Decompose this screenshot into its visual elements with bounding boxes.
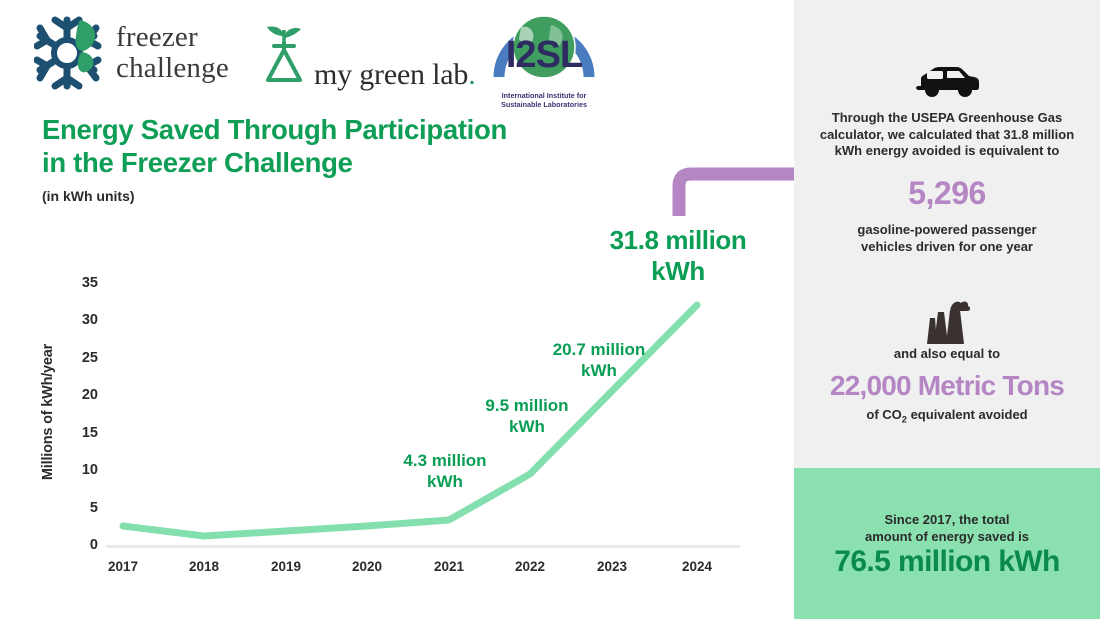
x-tick-2017: 2017 <box>88 559 158 574</box>
emissions-caption-suffix: equivalent avoided <box>907 407 1028 422</box>
x-tick-2019: 2019 <box>251 559 321 574</box>
emissions-value: 22,000 Metric Tons <box>810 371 1084 401</box>
emissions-lead-in: and also equal to <box>810 346 1084 363</box>
total-description: Since 2017, the total amount of energy s… <box>810 512 1084 545</box>
x-tick-2023: 2023 <box>577 559 647 574</box>
data-label-2023-line2: kWh <box>581 361 617 380</box>
data-label-2022-line1: 9.5 million <box>485 396 568 415</box>
line-chart: Millions of kWh/year 35 30 25 20 15 10 5… <box>0 0 794 619</box>
emissions-caption-prefix: of CO <box>866 407 901 422</box>
infographic-canvas: freezer challenge my green lab. <box>0 0 1100 619</box>
total-description-line1: Since 2017, the total <box>885 512 1010 527</box>
data-label-2023-line1: 20.7 million <box>553 340 646 359</box>
x-tick-2024: 2024 <box>662 559 732 574</box>
data-label-2022: 9.5 million kWh <box>457 395 597 437</box>
total-description-line2: amount of energy saved is <box>865 529 1029 544</box>
data-label-2023: 20.7 million kWh <box>524 339 674 381</box>
data-label-2021-line2: kWh <box>427 472 463 491</box>
vehicles-value: 5,296 <box>810 176 1084 210</box>
data-label-2022-line2: kWh <box>509 417 545 436</box>
car-icon <box>913 64 981 103</box>
vehicles-unit-line1: gasoline-powered passenger <box>857 222 1036 237</box>
curved-arrow-right-icon <box>0 0 840 300</box>
data-label-2021-line1: 4.3 million <box>403 451 486 470</box>
x-tick-2022: 2022 <box>495 559 565 574</box>
x-tick-2018: 2018 <box>169 559 239 574</box>
total-value: 76.5 million kWh <box>810 545 1084 579</box>
emissions-caption: of CO2 equivalent avoided <box>810 407 1084 428</box>
right-panel: Through the USEPA Greenhouse Gas calcula… <box>794 0 1100 619</box>
vehicles-description: Through the USEPA Greenhouse Gas calcula… <box>810 110 1084 160</box>
x-tick-2021: 2021 <box>414 559 484 574</box>
vehicles-unit: gasoline-powered passenger vehicles driv… <box>810 222 1084 255</box>
power-plant-icon <box>918 298 976 351</box>
vehicles-unit-line2: vehicles driven for one year <box>861 239 1033 254</box>
data-label-2021: 4.3 million kWh <box>375 450 515 492</box>
x-tick-2020: 2020 <box>332 559 402 574</box>
